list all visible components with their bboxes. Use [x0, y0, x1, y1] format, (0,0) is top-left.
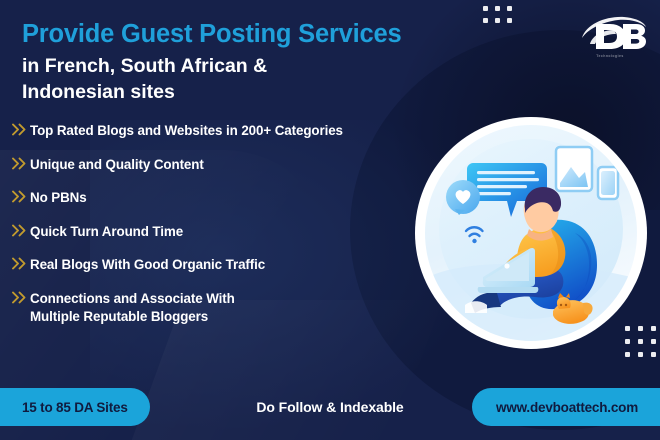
- feature-item: Quick Turn Around Time: [12, 223, 442, 242]
- decorative-dot: [638, 352, 643, 357]
- bottom-bar: 15 to 85 DA Sites Do Follow & Indexable …: [0, 378, 660, 440]
- decorative-dot: [651, 339, 656, 344]
- double-chevron-right-icon: [12, 123, 30, 136]
- feature-item: Unique and Quality Content: [12, 156, 442, 175]
- feature-item: No PBNs: [12, 189, 442, 208]
- double-chevron-right-icon: [12, 224, 30, 237]
- feature-item-label: Top Rated Blogs and Websites in 200+ Cat…: [30, 122, 343, 141]
- page-subtitle-line-1: in French, South African &: [22, 54, 472, 80]
- feature-item: Real Blogs With Good Organic Traffic: [12, 256, 442, 275]
- feature-list: Top Rated Blogs and Websites in 200+ Cat…: [12, 122, 442, 327]
- decorative-dot-grid-top: [483, 0, 512, 23]
- decorative-dot: [625, 352, 630, 357]
- feature-item: Top Rated Blogs and Websites in 200+ Cat…: [12, 122, 442, 141]
- decorative-dot: [483, 18, 488, 23]
- decorative-dot: [651, 352, 656, 357]
- double-chevron-right-icon: [12, 257, 30, 270]
- logo-tagline: Technologies: [576, 54, 644, 58]
- decorative-dot: [483, 6, 488, 11]
- do-follow-indexable-label: Do Follow & Indexable: [256, 399, 403, 415]
- db-technologies-logo: Technologies: [576, 14, 648, 58]
- decorative-dot: [507, 18, 512, 23]
- decorative-dot: [495, 6, 500, 11]
- website-url-badge[interactable]: www.devboattech.com: [472, 388, 660, 426]
- page-subtitle-line-2: Indonesian sites: [22, 80, 472, 106]
- double-chevron-right-icon: [12, 291, 30, 304]
- feature-item: Connections and Associate With Multiple …: [12, 290, 442, 327]
- double-chevron-right-icon: [12, 190, 30, 203]
- page-title: Provide Guest Posting Services: [22, 19, 472, 49]
- decorative-dot: [495, 18, 500, 23]
- feature-item-label: Connections and Associate With Multiple …: [30, 290, 235, 327]
- feature-item-label: No PBNs: [30, 189, 87, 208]
- decorative-dot: [651, 326, 656, 331]
- feature-item-label: Real Blogs With Good Organic Traffic: [30, 256, 265, 275]
- feature-item-label: Unique and Quality Content: [30, 156, 204, 175]
- decorative-dot: [507, 6, 512, 11]
- illustration-white-circle: [415, 117, 647, 349]
- double-chevron-right-icon: [12, 157, 30, 170]
- feature-item-label: Quick Turn Around Time: [30, 223, 183, 242]
- illustration-scene: [425, 125, 637, 341]
- website-url-label: www.devboattech.com: [496, 400, 638, 415]
- heading-block: Provide Guest Posting Services in French…: [22, 19, 472, 106]
- guest-posting-service-banner: Technologies Provide Guest Posting Servi…: [0, 0, 660, 440]
- man-with-laptop-on-beanbag-illustration: [415, 117, 647, 349]
